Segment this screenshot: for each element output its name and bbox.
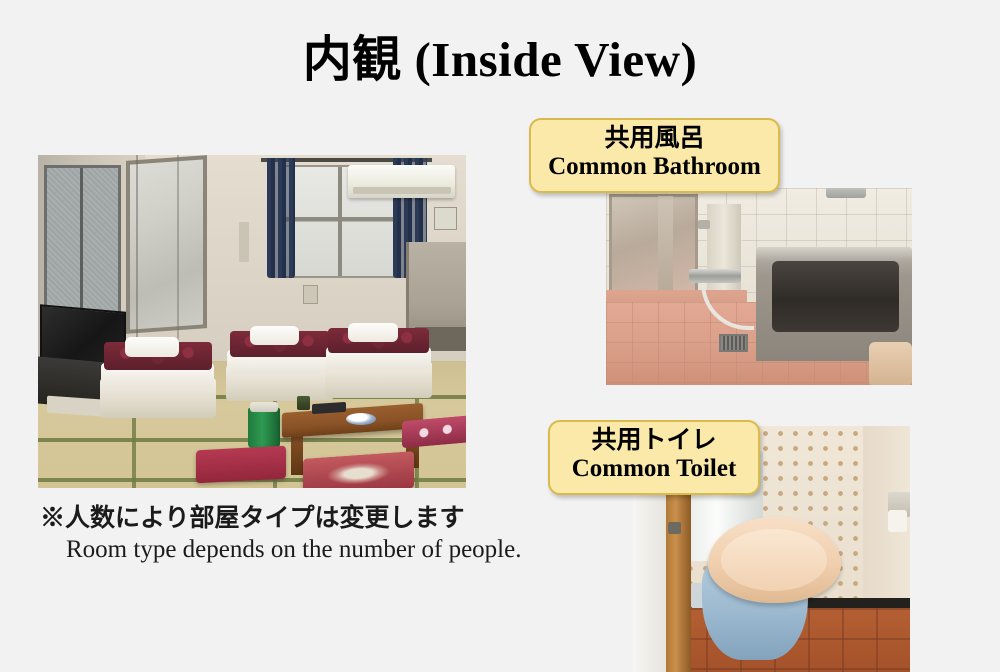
zabuton-cushion [402,415,466,448]
callout-common-toilet: 共用トイレ Common Toilet [548,420,760,495]
futon-pillow [348,323,397,342]
frosted-window-icon [44,165,121,318]
bathroom-photo [606,188,912,385]
room-photo [38,155,466,488]
bathtub-rim [756,247,912,262]
shower-head-icon [698,220,710,230]
callout-toilet-en: Common Toilet [564,455,744,483]
caption-en: Room type depends on the number of peopl… [40,534,580,565]
table-bowl [346,413,376,425]
curtain-left [267,158,295,278]
callout-common-bathroom: 共用風呂 Common Bathroom [529,118,780,193]
wall-seam [177,155,179,361]
bath-stool-icon [869,342,912,385]
callout-bathroom-en: Common Bathroom [545,153,764,181]
ac-remote-holder [434,207,457,231]
futon-bed [226,322,333,402]
table-cup [297,396,310,409]
futon-bed [100,331,216,418]
caption-jp: ※人数により部屋タイプは変更します [40,503,580,534]
floor-drain-icon [719,334,747,352]
door-lock-icon [668,522,682,534]
caption: ※人数により部屋タイプは変更します Room type depends on t… [40,503,580,566]
callout-toilet-jp: 共用トイレ [564,427,744,455]
futon-pillow [125,337,178,358]
futon-bed [325,318,432,398]
shower-mixer-faucet-icon [689,269,741,283]
table-leg [291,431,304,474]
wall-panel [239,222,248,262]
callout-bathroom-jp: 共用風呂 [545,125,764,153]
page-title: 内観 (Inside View) [0,33,1000,87]
wall-switch-icon [303,285,318,304]
zabuton-cushion [196,446,286,484]
toilet-seat-inner [721,529,827,591]
toilet-paper-roll-icon [888,510,907,532]
wall-seam [136,155,138,361]
trash-bin-icon [248,408,280,448]
air-conditioner-icon [348,165,455,198]
futon-pillow [250,326,299,345]
bathtub-basin [772,261,900,332]
toilet-seat-lid [708,517,841,603]
bathtub-tap-icon [826,188,866,198]
